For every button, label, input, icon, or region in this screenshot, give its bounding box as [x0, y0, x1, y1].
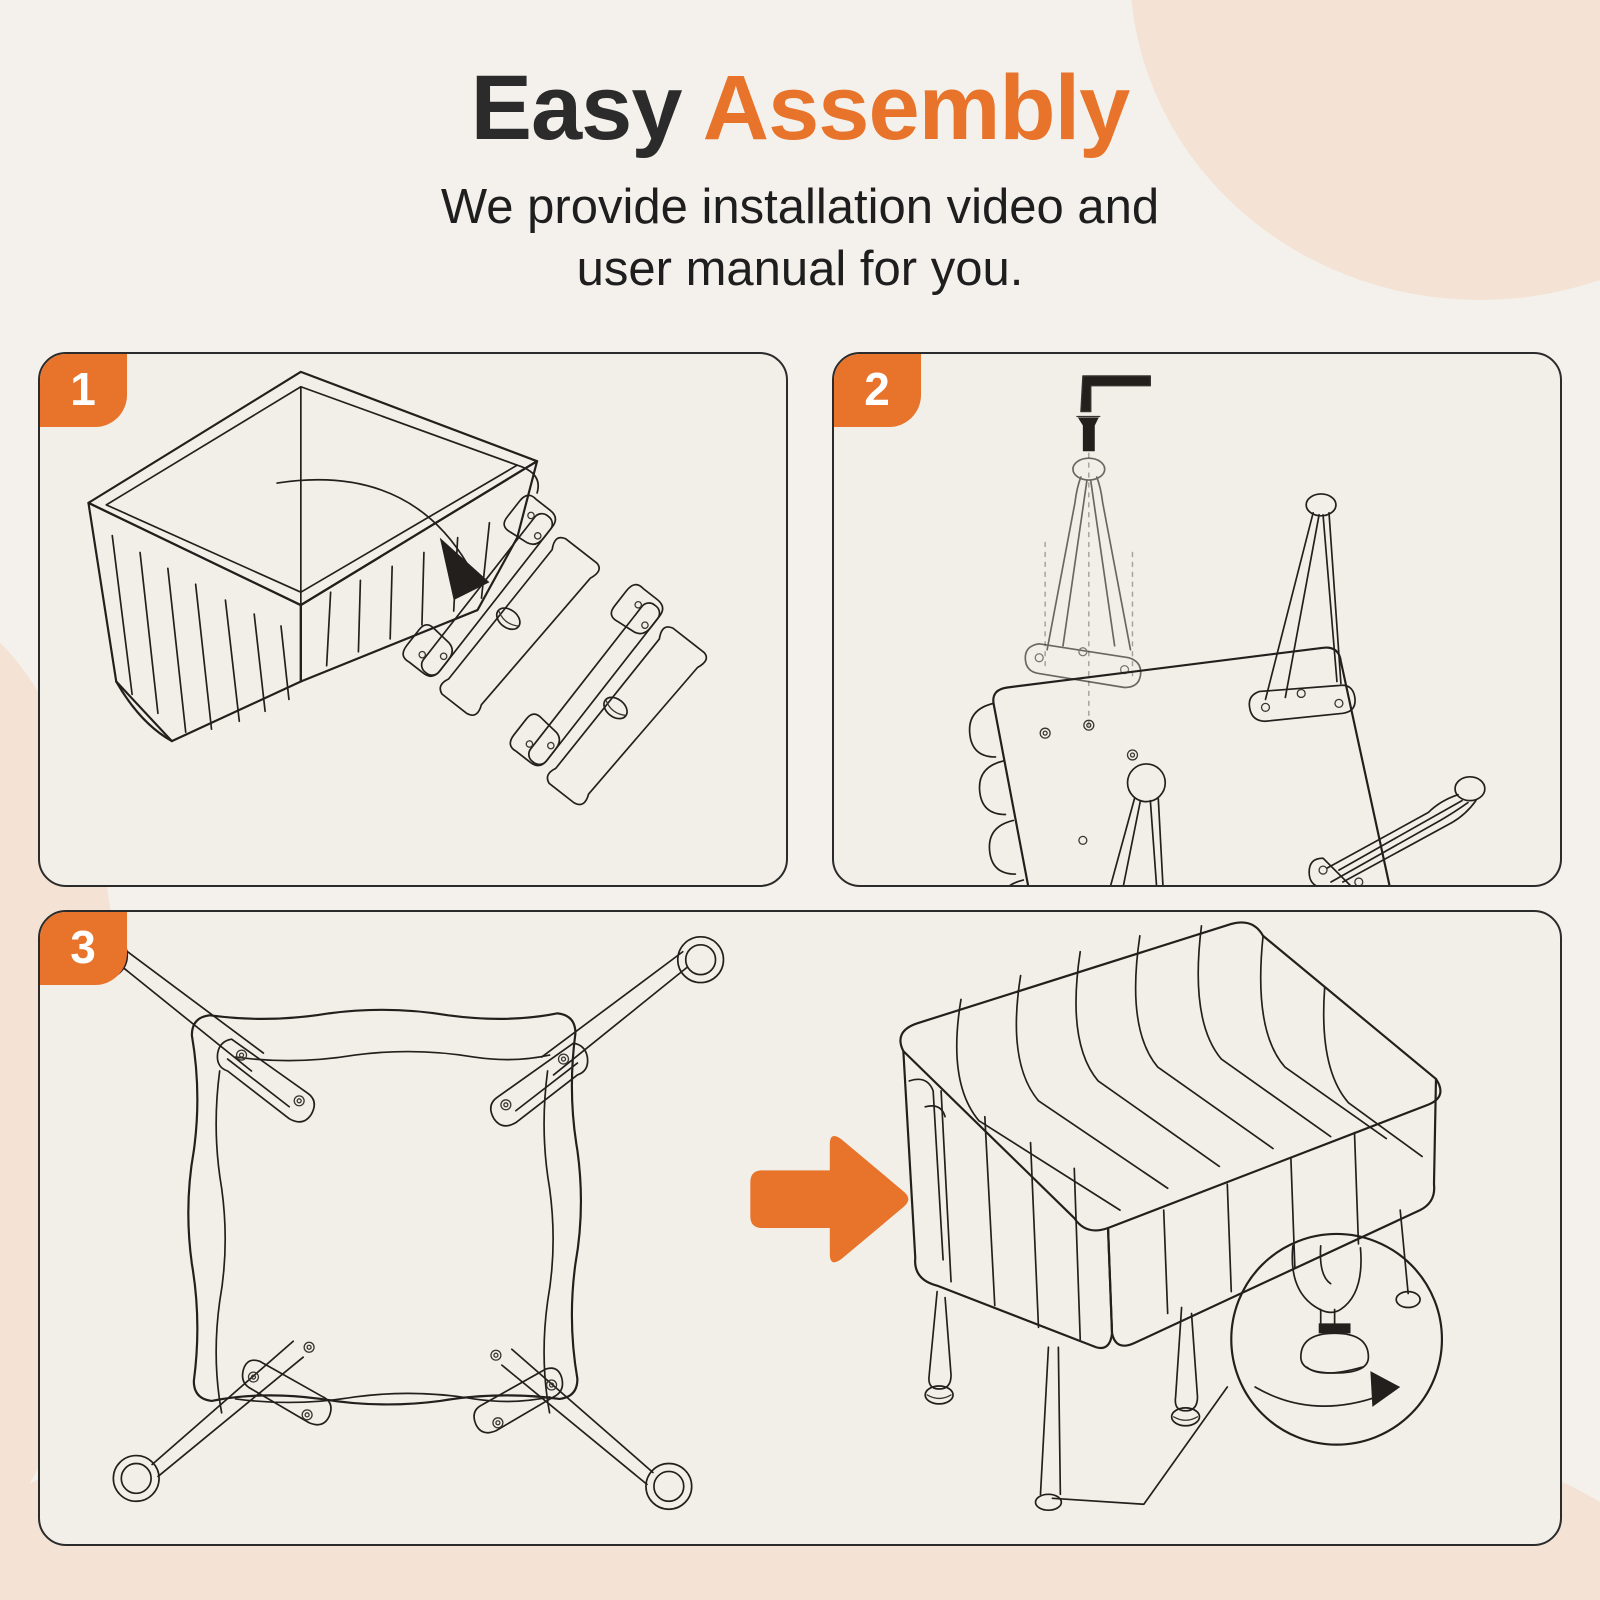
- four-hairpin-legs: [82, 933, 724, 1509]
- title-part-easy: Easy: [471, 57, 703, 159]
- ottoman-leg-front-left: [925, 1292, 953, 1404]
- step-panel-3: 3: [38, 910, 1562, 1546]
- orange-right-arrow: [750, 1136, 908, 1262]
- hairpin-leg-bottom-right: [474, 1349, 692, 1509]
- title-part-assembly: Assembly: [703, 57, 1130, 159]
- step-panel-1: 1: [38, 352, 788, 887]
- ottoman-leg-front-right: [1172, 1307, 1200, 1425]
- bolt: [1077, 417, 1100, 452]
- step-panel-2: 2: [832, 352, 1562, 887]
- ottoman-leg-center-front: [1036, 1347, 1062, 1510]
- step-number-badge-3: 3: [39, 911, 127, 985]
- allen-wrench: [1081, 376, 1150, 412]
- header: Easy Assembly We provide installation vi…: [0, 0, 1600, 301]
- attached-leg-center: [1085, 764, 1185, 885]
- page-subtitle: We provide installation video and user m…: [0, 176, 1600, 301]
- hairpin-leg-top-right: [491, 937, 724, 1126]
- ottoman-base-underside: [970, 648, 1397, 885]
- step-number-badge-2: 2: [833, 353, 921, 427]
- storage-ottoman-box: [88, 372, 538, 741]
- leg-bracket-assembly: [504, 581, 717, 813]
- hairpin-leg-bottom-left: [113, 1341, 331, 1501]
- screw-holes: [1040, 720, 1137, 844]
- attached-leg-lower-right: [1309, 777, 1485, 885]
- step-1-illustration: [40, 354, 786, 885]
- page-title: Easy Assembly: [0, 0, 1600, 158]
- subtitle-line-1: We provide installation video and: [441, 180, 1159, 234]
- ottoman-bottom-view: [188, 1010, 581, 1413]
- step-2-illustration: [834, 354, 1560, 885]
- finished-ottoman: [900, 922, 1440, 1510]
- leg-bracket-pair-left: [504, 581, 717, 813]
- step-3-illustration: [40, 912, 1560, 1544]
- rotation-arrow: [1255, 1371, 1400, 1407]
- ghost-hairpin-leg: [1025, 458, 1140, 687]
- assembly-infographic: Easy Assembly We provide installation vi…: [0, 0, 1600, 1600]
- attached-leg-right: [1249, 494, 1355, 721]
- ottoman-leg-back-right: [1396, 1210, 1420, 1307]
- subtitle-line-2: user manual for you.: [577, 242, 1024, 296]
- step-number-badge-1: 1: [39, 353, 127, 427]
